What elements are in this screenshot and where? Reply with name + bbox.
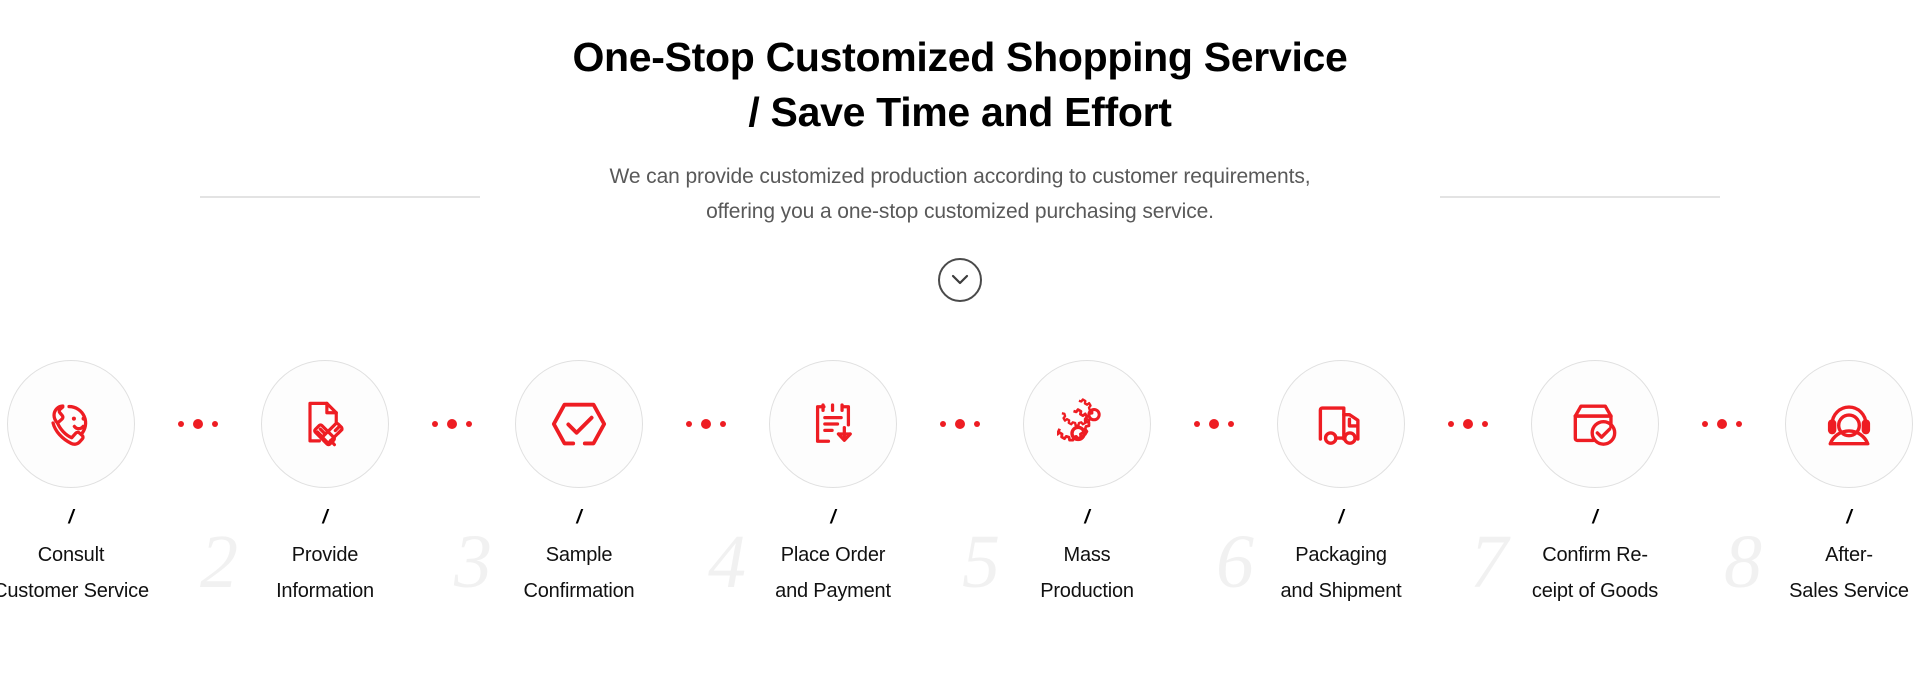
three-dots-icon [156, 360, 240, 488]
step-item[interactable]: 4 / Place Order and Payment [748, 360, 918, 609]
step-label-line-2: and Shipment [1246, 573, 1436, 609]
dot-small-right [1736, 421, 1742, 427]
page-title: One-Stop Customized Shopping Service / S… [0, 30, 1920, 140]
dot-small-left [432, 421, 438, 427]
step-caption: 7 / Confirm Re- ceipt of Goods [1500, 508, 1690, 609]
gears-icon [1057, 394, 1117, 454]
step-slash: / [738, 508, 928, 528]
step-caption: 4 / Place Order and Payment [738, 508, 928, 609]
page-subtitle: We can provide customized production acc… [0, 159, 1920, 229]
step-caption: 8 / After- Sales Service [1754, 508, 1920, 609]
step-label-line-2: and Payment [738, 573, 928, 609]
document-design-icon [295, 394, 355, 454]
dot-large-center [1463, 419, 1473, 429]
three-dots-icon [664, 360, 748, 488]
order-download-icon [804, 395, 862, 453]
step-label-line-1: Consult [0, 537, 166, 573]
step-icon-circle[interactable] [515, 360, 643, 488]
dot-small-right [974, 421, 980, 427]
step-caption: 6 / Packaging and Shipment [1246, 508, 1436, 609]
one-stop-service-section: One-Stop Customized Shopping Service / S… [0, 0, 1920, 673]
step-label: Packaging and Shipment [1246, 537, 1436, 609]
dot-large-center [1717, 419, 1727, 429]
step-label-line-2: Production [992, 573, 1182, 609]
step-label: Sample Confirmation [484, 537, 674, 609]
three-dots-icon [1426, 360, 1510, 488]
step-label-line-2: Confirmation [484, 573, 674, 609]
step-slash: / [1246, 508, 1436, 528]
step-label: Provide Information [230, 537, 420, 609]
step-item[interactable]: 5 / Mass Production [1002, 360, 1172, 609]
dot-small-left [686, 421, 692, 427]
dot-large-center [1209, 419, 1219, 429]
page-title-line-1: One-Stop Customized Shopping Service [0, 30, 1920, 85]
step-label-line-1: Provide [230, 537, 420, 573]
step-slash: / [0, 508, 166, 528]
step-item[interactable]: 1 / Consult Customer Service [0, 360, 156, 609]
step-label-line-1: Mass [992, 537, 1182, 573]
dot-large-center [193, 419, 203, 429]
process-steps: 1 / Consult Customer Service [0, 360, 1920, 609]
step-label-line-1: Place Order [738, 537, 928, 573]
dot-small-left [1702, 421, 1708, 427]
three-dots-icon [1172, 360, 1256, 488]
step-label-line-2: Customer Service [0, 573, 166, 609]
dot-small-right [720, 421, 726, 427]
step-slash: / [1754, 508, 1920, 528]
dot-small-left [940, 421, 946, 427]
page-title-line-2: / Save Time and Effort [0, 85, 1920, 140]
dot-small-left [1448, 421, 1454, 427]
step-label-line-1: Packaging [1246, 537, 1436, 573]
step-caption: 5 / Mass Production [992, 508, 1182, 609]
three-dots-icon [918, 360, 1002, 488]
step-slash: / [230, 508, 420, 528]
dot-large-center [447, 419, 457, 429]
chevron-down-icon [951, 274, 969, 286]
step-label-line-1: Confirm Re- [1500, 537, 1690, 573]
step-icon-circle[interactable] [261, 360, 389, 488]
step-caption: 2 / Provide Information [230, 508, 420, 609]
step-label: Place Order and Payment [738, 537, 928, 609]
page-subtitle-line-1: We can provide customized production acc… [0, 159, 1920, 194]
step-slash: / [992, 508, 1182, 528]
step-item[interactable]: 7 / Confirm Re- ceipt of Goods [1510, 360, 1680, 609]
step-label-line-2: ceipt of Goods [1500, 573, 1690, 609]
phone-smiley-icon [40, 393, 102, 455]
dot-small-left [178, 421, 184, 427]
step-label: Consult Customer Service [0, 537, 166, 609]
step-item[interactable]: 8 / After- Sales Service [1764, 360, 1920, 609]
step-slash: / [484, 508, 674, 528]
step-icon-circle[interactable] [769, 360, 897, 488]
dot-large-center [955, 419, 965, 429]
step-slash: / [1500, 508, 1690, 528]
box-check-icon [1565, 394, 1625, 454]
divider-right [1440, 196, 1720, 198]
step-item[interactable]: 2 / Provide Information [240, 360, 410, 609]
dot-small-right [466, 421, 472, 427]
step-label-line-1: Sample [484, 537, 674, 573]
section-header: One-Stop Customized Shopping Service / S… [0, 30, 1920, 229]
step-item[interactable]: 6 / Packaging and Shipment [1256, 360, 1426, 609]
step-caption: 1 / Consult Customer Service [0, 508, 166, 609]
step-icon-circle[interactable] [1277, 360, 1405, 488]
hexagon-check-icon [548, 393, 610, 455]
delivery-truck-icon [1311, 394, 1371, 454]
dot-small-left [1194, 421, 1200, 427]
step-label: Mass Production [992, 537, 1182, 609]
scroll-down-button[interactable] [938, 258, 982, 302]
dot-large-center [701, 419, 711, 429]
step-icon-circle[interactable] [7, 360, 135, 488]
page-subtitle-line-2: offering you a one-stop customized purch… [0, 194, 1920, 229]
step-icon-circle[interactable] [1023, 360, 1151, 488]
step-caption: 3 / Sample Confirmation [484, 508, 674, 609]
step-label-line-2: Sales Service [1754, 573, 1920, 609]
step-item[interactable]: 3 / Sample Confirmation [494, 360, 664, 609]
step-label: Confirm Re- ceipt of Goods [1500, 537, 1690, 609]
step-icon-circle[interactable] [1531, 360, 1659, 488]
step-label: After- Sales Service [1754, 537, 1920, 609]
divider-left [200, 196, 480, 198]
step-label-line-1: After- [1754, 537, 1920, 573]
dot-small-right [212, 421, 218, 427]
dot-small-right [1482, 421, 1488, 427]
three-dots-icon [410, 360, 494, 488]
step-icon-circle[interactable] [1785, 360, 1913, 488]
step-label-line-2: Information [230, 573, 420, 609]
dot-small-right [1228, 421, 1234, 427]
three-dots-icon [1680, 360, 1764, 488]
headset-person-icon [1819, 394, 1879, 454]
